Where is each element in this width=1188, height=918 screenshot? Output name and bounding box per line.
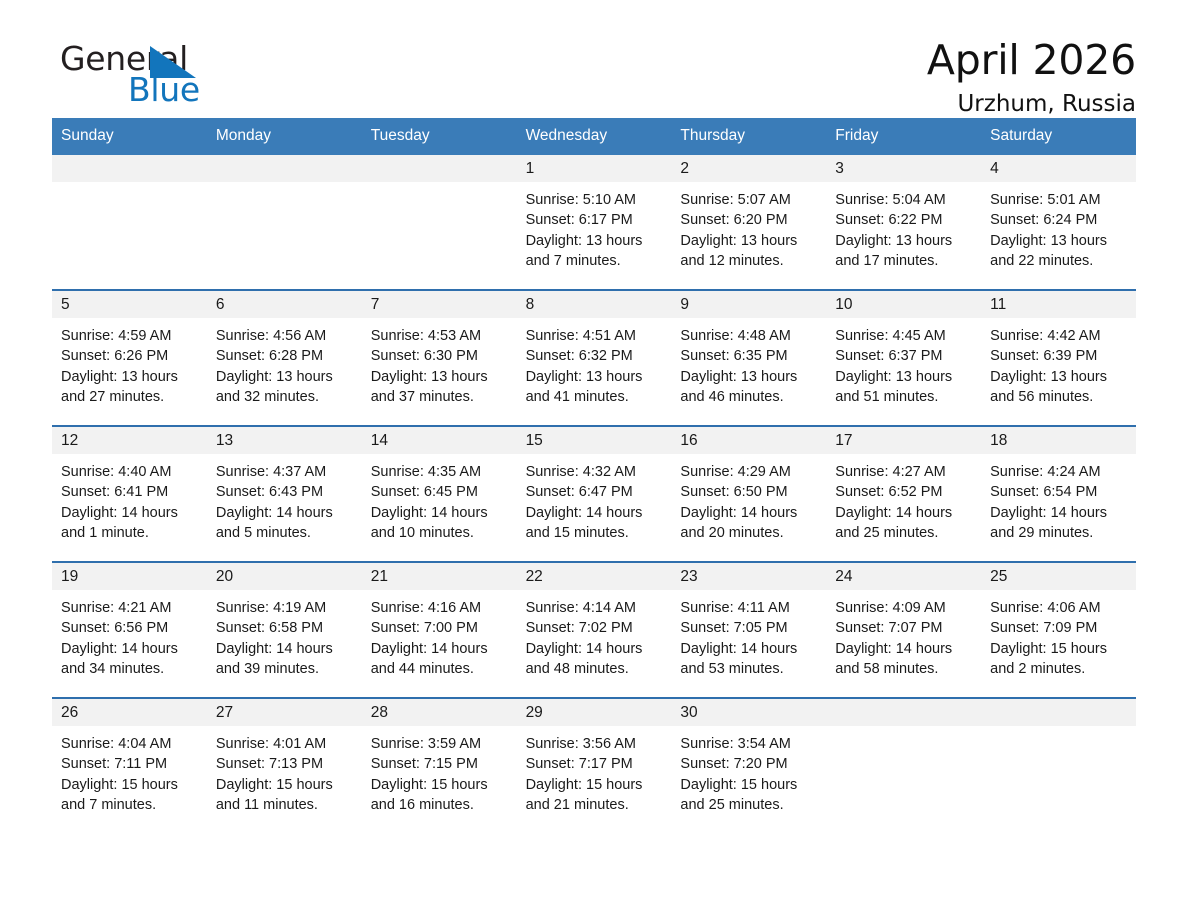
day-details: Sunrise: 4:35 AMSunset: 6:45 PMDaylight:… — [362, 454, 517, 543]
location-subtitle: Urzhum, Russia — [927, 90, 1136, 118]
sunrise-text: Sunrise: 4:09 AM — [835, 598, 969, 618]
day-number: 20 — [207, 563, 362, 590]
daylight-text: Daylight: 13 hours and 51 minutes. — [835, 367, 969, 408]
calendar-day-cell[interactable]: 9Sunrise: 4:48 AMSunset: 6:35 PMDaylight… — [671, 291, 826, 415]
day-number — [826, 699, 981, 726]
daylight-text: Daylight: 14 hours and 5 minutes. — [216, 503, 350, 544]
sunrise-text: Sunrise: 4:56 AM — [216, 326, 350, 346]
day-details: Sunrise: 4:45 AMSunset: 6:37 PMDaylight:… — [826, 318, 981, 407]
calendar-day-cell[interactable]: 23Sunrise: 4:11 AMSunset: 7:05 PMDayligh… — [671, 563, 826, 687]
sunset-text: Sunset: 6:47 PM — [526, 482, 660, 502]
day-details: Sunrise: 4:01 AMSunset: 7:13 PMDaylight:… — [207, 726, 362, 815]
calendar-week-row: 19Sunrise: 4:21 AMSunset: 6:56 PMDayligh… — [52, 561, 1136, 687]
day-details: Sunrise: 4:27 AMSunset: 6:52 PMDaylight:… — [826, 454, 981, 543]
day-number: 27 — [207, 699, 362, 726]
weekday-header-wednesday: Wednesday — [517, 118, 672, 155]
daylight-text: Daylight: 15 hours and 25 minutes. — [680, 775, 814, 816]
day-details: Sunrise: 4:21 AMSunset: 6:56 PMDaylight:… — [52, 590, 207, 679]
sunset-text: Sunset: 7:00 PM — [371, 618, 505, 638]
calendar-week-row: 5Sunrise: 4:59 AMSunset: 6:26 PMDaylight… — [52, 289, 1136, 415]
day-details: Sunrise: 4:40 AMSunset: 6:41 PMDaylight:… — [52, 454, 207, 543]
day-number: 8 — [517, 291, 672, 318]
daylight-text: Daylight: 14 hours and 29 minutes. — [990, 503, 1124, 544]
day-number: 19 — [52, 563, 207, 590]
calendar-day-cell[interactable]: 26Sunrise: 4:04 AMSunset: 7:11 PMDayligh… — [52, 699, 207, 823]
daylight-text: Daylight: 13 hours and 7 minutes. — [526, 231, 660, 272]
day-number: 4 — [981, 155, 1136, 182]
day-number: 9 — [671, 291, 826, 318]
day-details: Sunrise: 4:48 AMSunset: 6:35 PMDaylight:… — [671, 318, 826, 407]
day-details — [826, 726, 981, 734]
day-number: 10 — [826, 291, 981, 318]
calendar-empty-cell — [362, 155, 517, 279]
day-number: 16 — [671, 427, 826, 454]
day-number: 30 — [671, 699, 826, 726]
daylight-text: Daylight: 14 hours and 1 minute. — [61, 503, 195, 544]
day-number — [362, 155, 517, 182]
day-details — [981, 726, 1136, 734]
daylight-text: Daylight: 14 hours and 10 minutes. — [371, 503, 505, 544]
calendar-day-cell[interactable]: 22Sunrise: 4:14 AMSunset: 7:02 PMDayligh… — [517, 563, 672, 687]
calendar-day-cell[interactable]: 25Sunrise: 4:06 AMSunset: 7:09 PMDayligh… — [981, 563, 1136, 687]
sunrise-text: Sunrise: 4:21 AM — [61, 598, 195, 618]
day-number: 5 — [52, 291, 207, 318]
day-details: Sunrise: 4:14 AMSunset: 7:02 PMDaylight:… — [517, 590, 672, 679]
sunrise-text: Sunrise: 4:51 AM — [526, 326, 660, 346]
day-number: 13 — [207, 427, 362, 454]
sunset-text: Sunset: 6:20 PM — [680, 210, 814, 230]
day-number: 21 — [362, 563, 517, 590]
day-details: Sunrise: 4:24 AMSunset: 6:54 PMDaylight:… — [981, 454, 1136, 543]
day-details: Sunrise: 3:54 AMSunset: 7:20 PMDaylight:… — [671, 726, 826, 815]
sunset-text: Sunset: 6:24 PM — [990, 210, 1124, 230]
sunrise-text: Sunrise: 5:10 AM — [526, 190, 660, 210]
weekday-header-tuesday: Tuesday — [362, 118, 517, 155]
calendar-day-cell[interactable]: 20Sunrise: 4:19 AMSunset: 6:58 PMDayligh… — [207, 563, 362, 687]
title-block: April 2026 Urzhum, Russia — [927, 36, 1136, 118]
sunrise-text: Sunrise: 4:29 AM — [680, 462, 814, 482]
sunrise-text: Sunrise: 5:07 AM — [680, 190, 814, 210]
sunrise-text: Sunrise: 4:04 AM — [61, 734, 195, 754]
daylight-text: Daylight: 13 hours and 12 minutes. — [680, 231, 814, 272]
day-number: 23 — [671, 563, 826, 590]
calendar-page: General Blue April 2026 Urzhum, Russia S… — [0, 0, 1188, 918]
sunset-text: Sunset: 6:56 PM — [61, 618, 195, 638]
weekday-header-saturday: Saturday — [981, 118, 1136, 155]
calendar-empty-cell — [207, 155, 362, 279]
sunrise-text: Sunrise: 4:37 AM — [216, 462, 350, 482]
calendar-week-row: 1Sunrise: 5:10 AMSunset: 6:17 PMDaylight… — [52, 155, 1136, 279]
day-number: 7 — [362, 291, 517, 318]
daylight-text: Daylight: 14 hours and 39 minutes. — [216, 639, 350, 680]
sunset-text: Sunset: 7:13 PM — [216, 754, 350, 774]
calendar-day-cell[interactable]: 4Sunrise: 5:01 AMSunset: 6:24 PMDaylight… — [981, 155, 1136, 279]
sunrise-text: Sunrise: 4:11 AM — [680, 598, 814, 618]
weekday-header-row: SundayMondayTuesdayWednesdayThursdayFrid… — [52, 118, 1136, 155]
day-details: Sunrise: 4:04 AMSunset: 7:11 PMDaylight:… — [52, 726, 207, 815]
day-number: 3 — [826, 155, 981, 182]
sunrise-text: Sunrise: 4:48 AM — [680, 326, 814, 346]
daylight-text: Daylight: 15 hours and 21 minutes. — [526, 775, 660, 816]
day-details: Sunrise: 4:37 AMSunset: 6:43 PMDaylight:… — [207, 454, 362, 543]
daylight-text: Daylight: 15 hours and 11 minutes. — [216, 775, 350, 816]
sunrise-text: Sunrise: 4:35 AM — [371, 462, 505, 482]
daylight-text: Daylight: 14 hours and 44 minutes. — [371, 639, 505, 680]
daylight-text: Daylight: 13 hours and 32 minutes. — [216, 367, 350, 408]
daylight-text: Daylight: 14 hours and 53 minutes. — [680, 639, 814, 680]
sunset-text: Sunset: 6:52 PM — [835, 482, 969, 502]
general-blue-logo[interactable]: General Blue — [52, 40, 242, 116]
calendar-day-cell[interactable]: 24Sunrise: 4:09 AMSunset: 7:07 PMDayligh… — [826, 563, 981, 687]
sunrise-text: Sunrise: 3:54 AM — [680, 734, 814, 754]
day-details: Sunrise: 4:53 AMSunset: 6:30 PMDaylight:… — [362, 318, 517, 407]
calendar-day-cell[interactable]: 5Sunrise: 4:59 AMSunset: 6:26 PMDaylight… — [52, 291, 207, 415]
sunrise-text: Sunrise: 4:14 AM — [526, 598, 660, 618]
calendar-empty-cell — [826, 699, 981, 823]
sunset-text: Sunset: 6:45 PM — [371, 482, 505, 502]
calendar-day-cell[interactable]: 18Sunrise: 4:24 AMSunset: 6:54 PMDayligh… — [981, 427, 1136, 551]
day-details: Sunrise: 4:29 AMSunset: 6:50 PMDaylight:… — [671, 454, 826, 543]
daylight-text: Daylight: 14 hours and 20 minutes. — [680, 503, 814, 544]
sunrise-text: Sunrise: 4:27 AM — [835, 462, 969, 482]
calendar-day-cell[interactable]: 15Sunrise: 4:32 AMSunset: 6:47 PMDayligh… — [517, 427, 672, 551]
day-details: Sunrise: 3:59 AMSunset: 7:15 PMDaylight:… — [362, 726, 517, 815]
daylight-text: Daylight: 14 hours and 25 minutes. — [835, 503, 969, 544]
calendar-empty-cell — [981, 699, 1136, 823]
logo-text-blue: Blue — [128, 71, 200, 109]
daylight-text: Daylight: 15 hours and 2 minutes. — [990, 639, 1124, 680]
calendar-day-cell[interactable]: 11Sunrise: 4:42 AMSunset: 6:39 PMDayligh… — [981, 291, 1136, 415]
sunset-text: Sunset: 6:22 PM — [835, 210, 969, 230]
day-number: 29 — [517, 699, 672, 726]
weekday-header-friday: Friday — [826, 118, 981, 155]
day-details: Sunrise: 4:51 AMSunset: 6:32 PMDaylight:… — [517, 318, 672, 407]
sunset-text: Sunset: 6:43 PM — [216, 482, 350, 502]
sunrise-text: Sunrise: 4:42 AM — [990, 326, 1124, 346]
calendar-table: SundayMondayTuesdayWednesdayThursdayFrid… — [52, 118, 1136, 823]
day-number: 25 — [981, 563, 1136, 590]
daylight-text: Daylight: 13 hours and 41 minutes. — [526, 367, 660, 408]
sunset-text: Sunset: 7:11 PM — [61, 754, 195, 774]
sunrise-text: Sunrise: 4:59 AM — [61, 326, 195, 346]
sunset-text: Sunset: 7:02 PM — [526, 618, 660, 638]
sunset-text: Sunset: 6:39 PM — [990, 346, 1124, 366]
day-number: 28 — [362, 699, 517, 726]
day-details: Sunrise: 5:01 AMSunset: 6:24 PMDaylight:… — [981, 182, 1136, 271]
weekday-header-thursday: Thursday — [671, 118, 826, 155]
sunrise-text: Sunrise: 4:40 AM — [61, 462, 195, 482]
day-number: 2 — [671, 155, 826, 182]
page-header: General Blue April 2026 Urzhum, Russia — [52, 0, 1136, 118]
sunset-text: Sunset: 6:50 PM — [680, 482, 814, 502]
calendar-day-cell[interactable]: 16Sunrise: 4:29 AMSunset: 6:50 PMDayligh… — [671, 427, 826, 551]
weekday-header-sunday: Sunday — [52, 118, 207, 155]
calendar-day-cell[interactable]: 1Sunrise: 5:10 AMSunset: 6:17 PMDaylight… — [517, 155, 672, 279]
day-number — [207, 155, 362, 182]
daylight-text: Daylight: 15 hours and 7 minutes. — [61, 775, 195, 816]
sunset-text: Sunset: 7:17 PM — [526, 754, 660, 774]
sunset-text: Sunset: 6:41 PM — [61, 482, 195, 502]
sunset-text: Sunset: 6:28 PM — [216, 346, 350, 366]
sunset-text: Sunset: 7:20 PM — [680, 754, 814, 774]
daylight-text: Daylight: 14 hours and 58 minutes. — [835, 639, 969, 680]
daylight-text: Daylight: 13 hours and 27 minutes. — [61, 367, 195, 408]
day-number: 1 — [517, 155, 672, 182]
calendar-day-cell[interactable]: 13Sunrise: 4:37 AMSunset: 6:43 PMDayligh… — [207, 427, 362, 551]
sunrise-text: Sunrise: 4:19 AM — [216, 598, 350, 618]
calendar-day-cell[interactable]: 27Sunrise: 4:01 AMSunset: 7:13 PMDayligh… — [207, 699, 362, 823]
sunrise-text: Sunrise: 5:01 AM — [990, 190, 1124, 210]
sunrise-text: Sunrise: 4:53 AM — [371, 326, 505, 346]
sunrise-text: Sunrise: 3:59 AM — [371, 734, 505, 754]
day-details: Sunrise: 4:16 AMSunset: 7:00 PMDaylight:… — [362, 590, 517, 679]
calendar-day-cell[interactable]: 2Sunrise: 5:07 AMSunset: 6:20 PMDaylight… — [671, 155, 826, 279]
day-details: Sunrise: 4:11 AMSunset: 7:05 PMDaylight:… — [671, 590, 826, 679]
day-details: Sunrise: 4:59 AMSunset: 6:26 PMDaylight:… — [52, 318, 207, 407]
calendar-day-cell[interactable]: 19Sunrise: 4:21 AMSunset: 6:56 PMDayligh… — [52, 563, 207, 687]
weekday-header-monday: Monday — [207, 118, 362, 155]
daylight-text: Daylight: 14 hours and 48 minutes. — [526, 639, 660, 680]
sunrise-text: Sunrise: 4:24 AM — [990, 462, 1124, 482]
day-number: 22 — [517, 563, 672, 590]
day-number: 15 — [517, 427, 672, 454]
calendar-week-row: 26Sunrise: 4:04 AMSunset: 7:11 PMDayligh… — [52, 697, 1136, 823]
sunset-text: Sunset: 6:17 PM — [526, 210, 660, 230]
day-number: 6 — [207, 291, 362, 318]
sunset-text: Sunset: 7:09 PM — [990, 618, 1124, 638]
day-details: Sunrise: 4:19 AMSunset: 6:58 PMDaylight:… — [207, 590, 362, 679]
daylight-text: Daylight: 13 hours and 46 minutes. — [680, 367, 814, 408]
day-number: 12 — [52, 427, 207, 454]
day-number: 26 — [52, 699, 207, 726]
day-details — [362, 182, 517, 190]
calendar-day-cell[interactable]: 12Sunrise: 4:40 AMSunset: 6:41 PMDayligh… — [52, 427, 207, 551]
calendar-empty-cell — [52, 155, 207, 279]
sunset-text: Sunset: 6:30 PM — [371, 346, 505, 366]
day-number — [52, 155, 207, 182]
sunrise-text: Sunrise: 4:06 AM — [990, 598, 1124, 618]
calendar-day-cell[interactable]: 28Sunrise: 3:59 AMSunset: 7:15 PMDayligh… — [362, 699, 517, 823]
day-number: 17 — [826, 427, 981, 454]
day-number: 24 — [826, 563, 981, 590]
sunset-text: Sunset: 7:15 PM — [371, 754, 505, 774]
sunset-text: Sunset: 6:58 PM — [216, 618, 350, 638]
calendar-day-cell[interactable]: 14Sunrise: 4:35 AMSunset: 6:45 PMDayligh… — [362, 427, 517, 551]
page-title: April 2026 — [927, 36, 1136, 84]
day-details: Sunrise: 5:07 AMSunset: 6:20 PMDaylight:… — [671, 182, 826, 271]
daylight-text: Daylight: 13 hours and 22 minutes. — [990, 231, 1124, 272]
day-details: Sunrise: 4:09 AMSunset: 7:07 PMDaylight:… — [826, 590, 981, 679]
sunset-text: Sunset: 6:37 PM — [835, 346, 969, 366]
day-number — [981, 699, 1136, 726]
day-number: 14 — [362, 427, 517, 454]
calendar-day-cell[interactable]: 8Sunrise: 4:51 AMSunset: 6:32 PMDaylight… — [517, 291, 672, 415]
daylight-text: Daylight: 14 hours and 34 minutes. — [61, 639, 195, 680]
day-details: Sunrise: 5:10 AMSunset: 6:17 PMDaylight:… — [517, 182, 672, 271]
daylight-text: Daylight: 13 hours and 17 minutes. — [835, 231, 969, 272]
sunrise-text: Sunrise: 4:45 AM — [835, 326, 969, 346]
sunrise-text: Sunrise: 5:04 AM — [835, 190, 969, 210]
day-details: Sunrise: 4:42 AMSunset: 6:39 PMDaylight:… — [981, 318, 1136, 407]
day-details: Sunrise: 3:56 AMSunset: 7:17 PMDaylight:… — [517, 726, 672, 815]
sunset-text: Sunset: 6:35 PM — [680, 346, 814, 366]
day-details: Sunrise: 4:56 AMSunset: 6:28 PMDaylight:… — [207, 318, 362, 407]
calendar-day-cell[interactable]: 10Sunrise: 4:45 AMSunset: 6:37 PMDayligh… — [826, 291, 981, 415]
sunrise-text: Sunrise: 4:16 AM — [371, 598, 505, 618]
calendar-day-cell[interactable]: 6Sunrise: 4:56 AMSunset: 6:28 PMDaylight… — [207, 291, 362, 415]
sunset-text: Sunset: 6:26 PM — [61, 346, 195, 366]
calendar-day-cell[interactable]: 21Sunrise: 4:16 AMSunset: 7:00 PMDayligh… — [362, 563, 517, 687]
sunrise-text: Sunrise: 4:01 AM — [216, 734, 350, 754]
calendar-day-cell[interactable]: 17Sunrise: 4:27 AMSunset: 6:52 PMDayligh… — [826, 427, 981, 551]
sunset-text: Sunset: 6:32 PM — [526, 346, 660, 366]
day-details: Sunrise: 4:06 AMSunset: 7:09 PMDaylight:… — [981, 590, 1136, 679]
day-number: 11 — [981, 291, 1136, 318]
calendar-day-cell[interactable]: 30Sunrise: 3:54 AMSunset: 7:20 PMDayligh… — [671, 699, 826, 823]
daylight-text: Daylight: 13 hours and 56 minutes. — [990, 367, 1124, 408]
day-number: 18 — [981, 427, 1136, 454]
calendar-day-cell[interactable]: 3Sunrise: 5:04 AMSunset: 6:22 PMDaylight… — [826, 155, 981, 279]
calendar-body: 1Sunrise: 5:10 AMSunset: 6:17 PMDaylight… — [52, 155, 1136, 823]
daylight-text: Daylight: 13 hours and 37 minutes. — [371, 367, 505, 408]
sunrise-text: Sunrise: 3:56 AM — [526, 734, 660, 754]
daylight-text: Daylight: 15 hours and 16 minutes. — [371, 775, 505, 816]
day-details: Sunrise: 4:32 AMSunset: 6:47 PMDaylight:… — [517, 454, 672, 543]
calendar-day-cell[interactable]: 29Sunrise: 3:56 AMSunset: 7:17 PMDayligh… — [517, 699, 672, 823]
calendar-week-row: 12Sunrise: 4:40 AMSunset: 6:41 PMDayligh… — [52, 425, 1136, 551]
sunset-text: Sunset: 6:54 PM — [990, 482, 1124, 502]
day-details: Sunrise: 5:04 AMSunset: 6:22 PMDaylight:… — [826, 182, 981, 271]
day-details — [52, 182, 207, 190]
day-details — [207, 182, 362, 190]
daylight-text: Daylight: 14 hours and 15 minutes. — [526, 503, 660, 544]
sunrise-text: Sunrise: 4:32 AM — [526, 462, 660, 482]
sunset-text: Sunset: 7:05 PM — [680, 618, 814, 638]
calendar-day-cell[interactable]: 7Sunrise: 4:53 AMSunset: 6:30 PMDaylight… — [362, 291, 517, 415]
sunset-text: Sunset: 7:07 PM — [835, 618, 969, 638]
